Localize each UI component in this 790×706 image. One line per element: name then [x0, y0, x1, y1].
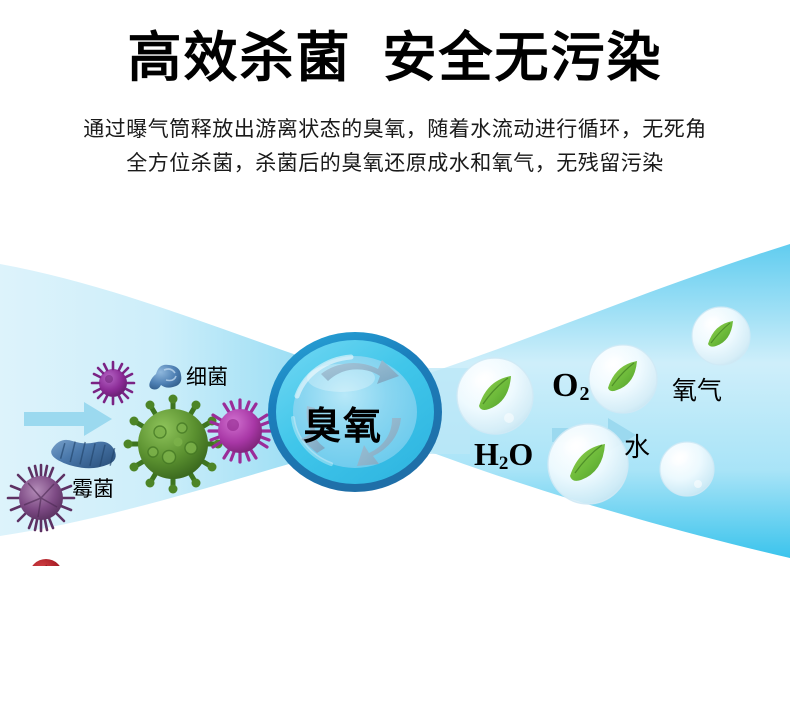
- oxygen-formula-subscript: 2: [579, 383, 589, 405]
- germ-red-icon: [29, 559, 63, 566]
- bubble-leaf-icon: [692, 307, 750, 365]
- label-bacteria: 细菌: [186, 367, 228, 388]
- label-ozone: 臭氧: [303, 408, 383, 446]
- bubble-leaf-icon: [548, 424, 628, 504]
- subtitle-line-1: 通过曝气筒释放出游离状态的臭氧，随着水流动进行循环，无死角: [14, 112, 776, 146]
- label-oxygen-name: 氧气: [672, 379, 722, 404]
- page-subtitle: 通过曝气筒释放出游离状态的臭氧，随着水流动进行循环，无死角 全方位杀菌，杀菌后的…: [0, 112, 790, 180]
- label-water-name: 水: [624, 435, 650, 461]
- page-root: 高效杀菌 安全无污染 通过曝气筒释放出游离状态的臭氧，随着水流动进行循环，无死角…: [0, 0, 790, 706]
- bubble-plain-icon: [660, 442, 714, 496]
- germ-purple-small-icon: [92, 362, 134, 404]
- water-formula-oxygen: O: [508, 436, 533, 472]
- water-formula-subscript: 2: [499, 453, 509, 474]
- mold-spore-icon: [8, 465, 74, 531]
- subtitle-line-2: 全方位杀菌，杀菌后的臭氧还原成水和氧气，无残留污染: [14, 146, 776, 180]
- label-water-formula: H2O: [474, 438, 533, 470]
- label-mold: 霉菌: [72, 479, 114, 500]
- oxygen-formula-element: O: [552, 367, 578, 404]
- water-formula-hydrogen: H: [474, 436, 499, 472]
- bubble-leaf-icon: [457, 358, 533, 434]
- bubble-leaf-icon: [589, 345, 657, 413]
- page-title: 高效杀菌 安全无污染: [0, 28, 790, 88]
- label-oxygen-formula: O2: [552, 369, 588, 403]
